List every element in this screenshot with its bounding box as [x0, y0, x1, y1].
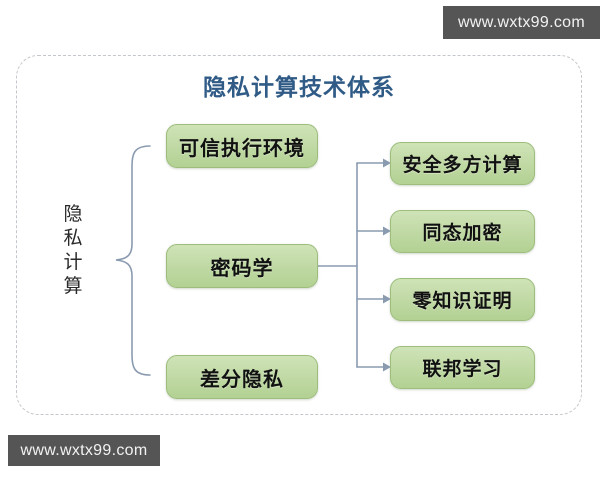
diagram-canvas: 隐私计算技术体系 隐 私 计 算 可信执行环境 密码学 差	[0, 0, 600, 480]
node-homomorphic-encryption[interactable]: 同态加密	[390, 210, 535, 253]
root-label-char-2: 私	[56, 227, 90, 251]
node-differential-privacy[interactable]: 差分隐私	[166, 355, 318, 399]
node-cryptography[interactable]: 密码学	[166, 244, 318, 288]
node-secure-multiparty-computation[interactable]: 安全多方计算	[390, 142, 535, 185]
node-trusted-execution-environment[interactable]: 可信执行环境	[166, 124, 318, 168]
root-label-char-3: 计	[56, 251, 90, 275]
node-federated-learning[interactable]: 联邦学习	[390, 346, 535, 389]
root-label-char-4: 算	[56, 275, 90, 299]
root-label-char-1: 隐	[56, 203, 90, 227]
page-title: 隐私计算技术体系	[16, 68, 582, 102]
node-zero-knowledge-proof[interactable]: 零知识证明	[390, 278, 535, 321]
watermark-bottom: www.wxtx99.com	[8, 435, 160, 466]
root-label: 隐 私 计 算	[56, 203, 90, 299]
watermark-top: www.wxtx99.com	[443, 6, 600, 39]
